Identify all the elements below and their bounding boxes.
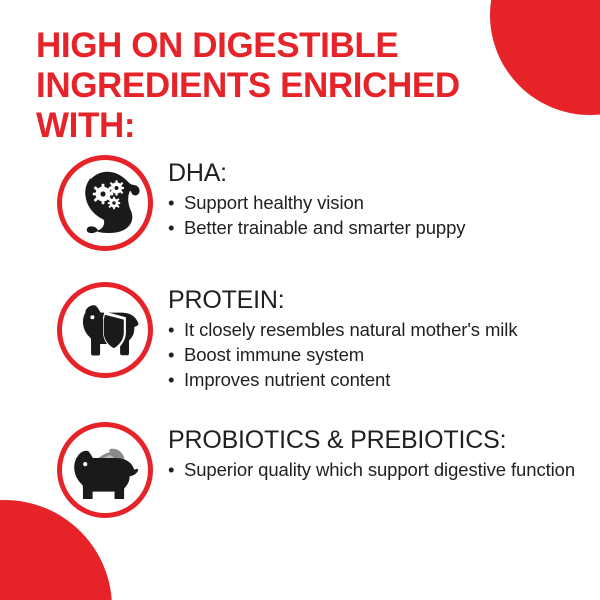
- feature-title: PROBIOTICS & PREBIOTICS:: [168, 426, 600, 455]
- feature-bullets: It closely resembles natural mother's mi…: [168, 317, 600, 392]
- feature-text-probiotics: PROBIOTICS & PREBIOTICS: Superior qualit…: [153, 422, 600, 482]
- dog-shield-icon: [57, 282, 153, 378]
- feature-text-dha: DHA: Support healthy vision Better train…: [153, 155, 600, 240]
- list-item: Support healthy vision: [168, 190, 600, 215]
- dog-head-gears-icon: [57, 155, 153, 251]
- feature-list: DHA: Support healthy vision Better train…: [0, 155, 600, 518]
- headline-line-3: WITH:: [36, 106, 516, 146]
- feature-bullets: Support healthy vision Better trainable …: [168, 190, 600, 240]
- list-item: Better trainable and smarter puppy: [168, 215, 600, 240]
- page-title: HIGH ON DIGESTIBLE INGREDIENTS ENRICHED …: [36, 26, 516, 146]
- list-item: Improves nutrient content: [168, 367, 600, 392]
- feature-title: PROTEIN:: [168, 286, 600, 315]
- feature-bullets: Superior quality which support digestive…: [168, 457, 600, 482]
- feature-item-protein: PROTEIN: It closely resembles natural mo…: [0, 282, 600, 392]
- feature-item-probiotics: PROBIOTICS & PREBIOTICS: Superior qualit…: [0, 422, 600, 518]
- infographic-canvas: HIGH ON DIGESTIBLE INGREDIENTS ENRICHED …: [0, 0, 600, 600]
- feature-item-dha: DHA: Support healthy vision Better train…: [0, 155, 600, 251]
- headline-line-1: HIGH ON DIGESTIBLE: [36, 26, 516, 66]
- list-item: Superior quality which support digestive…: [168, 457, 600, 482]
- headline-line-2: INGREDIENTS ENRICHED: [36, 66, 516, 106]
- feature-title: DHA:: [168, 159, 600, 188]
- feature-text-protein: PROTEIN: It closely resembles natural mo…: [153, 282, 600, 392]
- dog-digestion-icon: [57, 422, 153, 518]
- list-item: Boost immune system: [168, 342, 600, 367]
- list-item: It closely resembles natural mother's mi…: [168, 317, 600, 342]
